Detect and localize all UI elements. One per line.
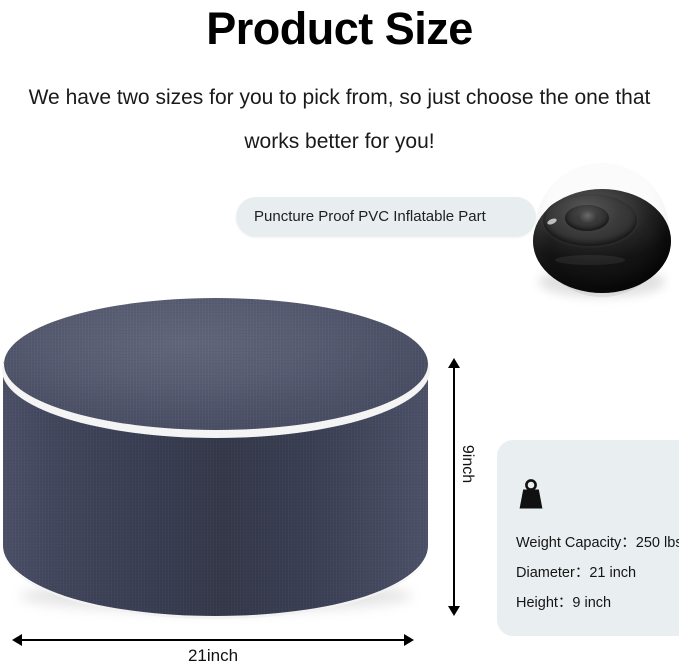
page-subtitle: We have two sizes for you to pick from, … <box>18 76 661 164</box>
callout-pill-puncture-proof: Puncture Proof PVC Inflatable Part <box>236 197 536 237</box>
pvc-inflatable-part-image <box>521 163 679 311</box>
pvc-valve <box>577 211 598 224</box>
arrow-down-icon <box>448 606 460 616</box>
arrow-right-icon <box>404 634 414 646</box>
callout-label: Puncture Proof PVC Inflatable Part <box>254 197 526 237</box>
spec-row-height: Height：9 inch <box>516 588 679 618</box>
weight-icon <box>516 478 546 510</box>
ottoman-top-surface <box>4 298 428 430</box>
specification-list: Weight Capacity：250 lbs Diameter：21 inch… <box>516 528 679 618</box>
dimension-line-vertical <box>453 365 455 609</box>
dimension-line-horizontal <box>20 639 406 641</box>
width-dimension-label: 21inch <box>12 646 414 666</box>
specification-card: Weight Capacity：250 lbs Diameter：21 inch… <box>497 440 679 636</box>
pvc-seam-line <box>555 255 625 265</box>
spec-row-weight-capacity: Weight Capacity：250 lbs <box>516 528 679 558</box>
spec-row-diameter: Diameter：21 inch <box>516 558 679 588</box>
page-title: Product Size <box>0 2 679 56</box>
height-dimension-label: 9inch <box>458 434 476 494</box>
ottoman-product-image <box>2 298 430 622</box>
